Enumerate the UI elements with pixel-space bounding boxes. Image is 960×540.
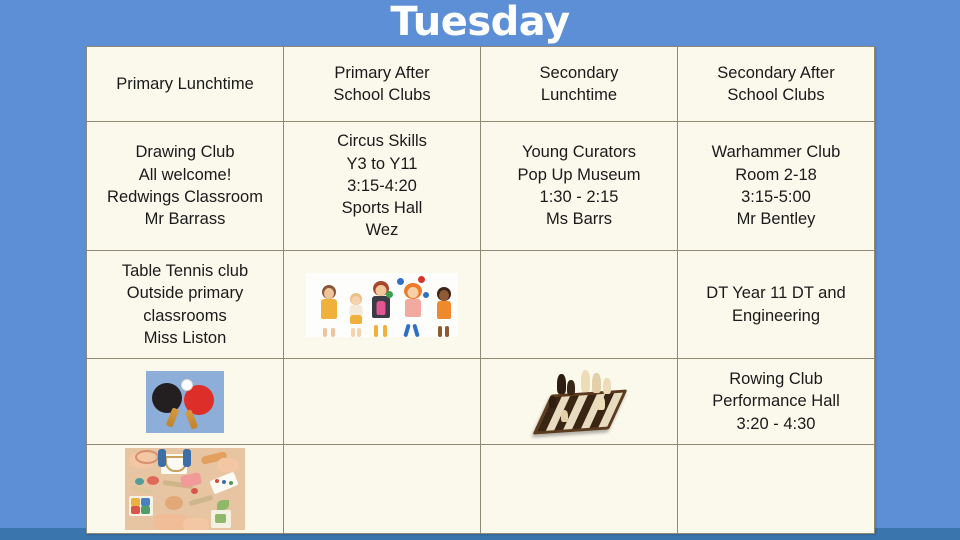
cell-primary-after-school-2 [284, 251, 481, 359]
chess-piece-dark [567, 380, 575, 395]
cell-primary-lunchtime-2: Table Tennis club Outside primary classr… [87, 251, 284, 359]
column-header-label: Primary Lunchtime [116, 75, 254, 93]
table-tennis-paddles-clipart [146, 371, 224, 433]
craft-hand [183, 449, 191, 467]
juggling-ball-green [386, 291, 393, 298]
craft-scissors [189, 495, 213, 506]
circus-kid-figure [368, 281, 394, 331]
page-title: Tuesday [0, 2, 960, 42]
craft-hand [158, 449, 166, 467]
craft-needle [131, 486, 153, 494]
chess-board-clipart [531, 370, 627, 434]
cell-primary-after-school-4 [284, 445, 481, 534]
chess-piece-dark [549, 396, 556, 408]
cell-primary-after-school-1: Circus Skills Y3 to Y11 3:15-4:20 Sports… [284, 122, 481, 251]
juggling-ball-blue [397, 278, 404, 285]
cell-primary-lunchtime-1: Drawing Club All welcome! Redwings Class… [87, 122, 284, 251]
craft-paint-dot [229, 481, 233, 485]
column-header-secondary-lunchtime: Secondary Lunchtime [481, 47, 678, 122]
column-header-secondary-after-school-clubs: Secondary After School Clubs [678, 47, 875, 122]
image-wrapper [91, 447, 279, 531]
chess-piece-light [581, 370, 590, 392]
table-row: Rowing Club Performance Hall 3:20 - 4:30 [87, 359, 875, 445]
column-header-label: Secondary Lunchtime [540, 64, 619, 104]
image-wrapper [91, 361, 279, 442]
cell-secondary-after-school-2: DT Year 11 DT and Engineering [678, 251, 875, 359]
cell-text: Warhammer Club Room 2-18 3:15-5:00 Mr Be… [712, 143, 841, 228]
cell-secondary-lunchtime-2 [481, 251, 678, 359]
art-craft-supplies-clipart [125, 448, 245, 530]
slide-canvas: Tuesday Primary Lunchtime Primary After … [0, 0, 960, 540]
craft-hands-bottom [183, 518, 209, 530]
table-header-row: Primary Lunchtime Primary After School C… [87, 47, 875, 122]
cell-text: Circus Skills Y3 to Y11 3:15-4:20 Sports… [337, 132, 427, 239]
circus-kids-clipart [306, 273, 458, 337]
craft-hand [217, 458, 239, 472]
craft-paint-dot [222, 480, 226, 484]
cell-secondary-lunchtime-3 [481, 359, 678, 445]
column-header-label: Secondary After School Clubs [717, 64, 834, 104]
image-wrapper [485, 361, 673, 442]
craft-yarn-ball [165, 496, 183, 510]
circus-kid-figure [434, 287, 454, 331]
cell-primary-lunchtime-4 [87, 445, 284, 534]
craft-paint-swatch [141, 506, 150, 514]
table-row: Table Tennis club Outside primary classr… [87, 251, 875, 359]
chess-board-surface [533, 389, 628, 434]
cell-text: DT Year 11 DT and Engineering [706, 284, 845, 324]
cell-secondary-after-school-1: Warhammer Club Room 2-18 3:15-5:00 Mr Be… [678, 122, 875, 251]
craft-button [135, 478, 144, 485]
cell-primary-after-school-3 [284, 359, 481, 445]
craft-thread [135, 450, 159, 464]
craft-card-mark [215, 514, 226, 523]
craft-eraser-pink [180, 472, 202, 488]
cell-text: Rowing Club Performance Hall 3:20 - 4:30 [712, 370, 839, 433]
column-header-primary-after-school-clubs: Primary After School Clubs [284, 47, 481, 122]
table-row: Drawing Club All welcome! Redwings Class… [87, 122, 875, 251]
craft-leaf [217, 500, 229, 510]
cell-secondary-after-school-3: Rowing Club Performance Hall 3:20 - 4:30 [678, 359, 875, 445]
craft-paint-swatch [131, 506, 140, 514]
craft-paint-dot [215, 479, 219, 483]
ping-pong-ball [181, 379, 193, 391]
column-header-label: Primary After School Clubs [333, 64, 430, 104]
cell-secondary-after-school-4 [678, 445, 875, 534]
circus-kid-figure [318, 285, 340, 331]
chess-piece-dark [557, 374, 566, 394]
column-header-primary-lunchtime: Primary Lunchtime [87, 47, 284, 122]
chess-piece-light [592, 373, 601, 393]
cell-primary-lunchtime-3 [87, 359, 284, 445]
craft-button [191, 488, 198, 494]
juggling-ball-red [418, 276, 425, 283]
chess-piece-light [597, 396, 605, 410]
circus-juggler-figure [401, 283, 425, 331]
craft-paint-swatch [131, 498, 140, 506]
cell-text: Drawing Club All welcome! Redwings Class… [107, 143, 263, 228]
juggling-ball-blue-2 [423, 292, 429, 298]
chess-piece-light [561, 410, 568, 422]
cell-text: Young Curators Pop Up Museum 1:30 - 2:15… [518, 143, 641, 228]
chess-piece-light [603, 378, 611, 394]
craft-hands-bottom [153, 514, 187, 530]
cell-text: Table Tennis club Outside primary classr… [122, 262, 248, 347]
craft-paint-swatch [141, 498, 150, 506]
cell-secondary-lunchtime-4 [481, 445, 678, 534]
image-wrapper [288, 253, 476, 356]
table-row [87, 445, 875, 534]
clubs-schedule-table: Primary Lunchtime Primary After School C… [86, 46, 875, 534]
cell-secondary-lunchtime-1: Young Curators Pop Up Museum 1:30 - 2:15… [481, 122, 678, 251]
craft-button [147, 476, 159, 485]
circus-kid-figure [347, 293, 365, 331]
